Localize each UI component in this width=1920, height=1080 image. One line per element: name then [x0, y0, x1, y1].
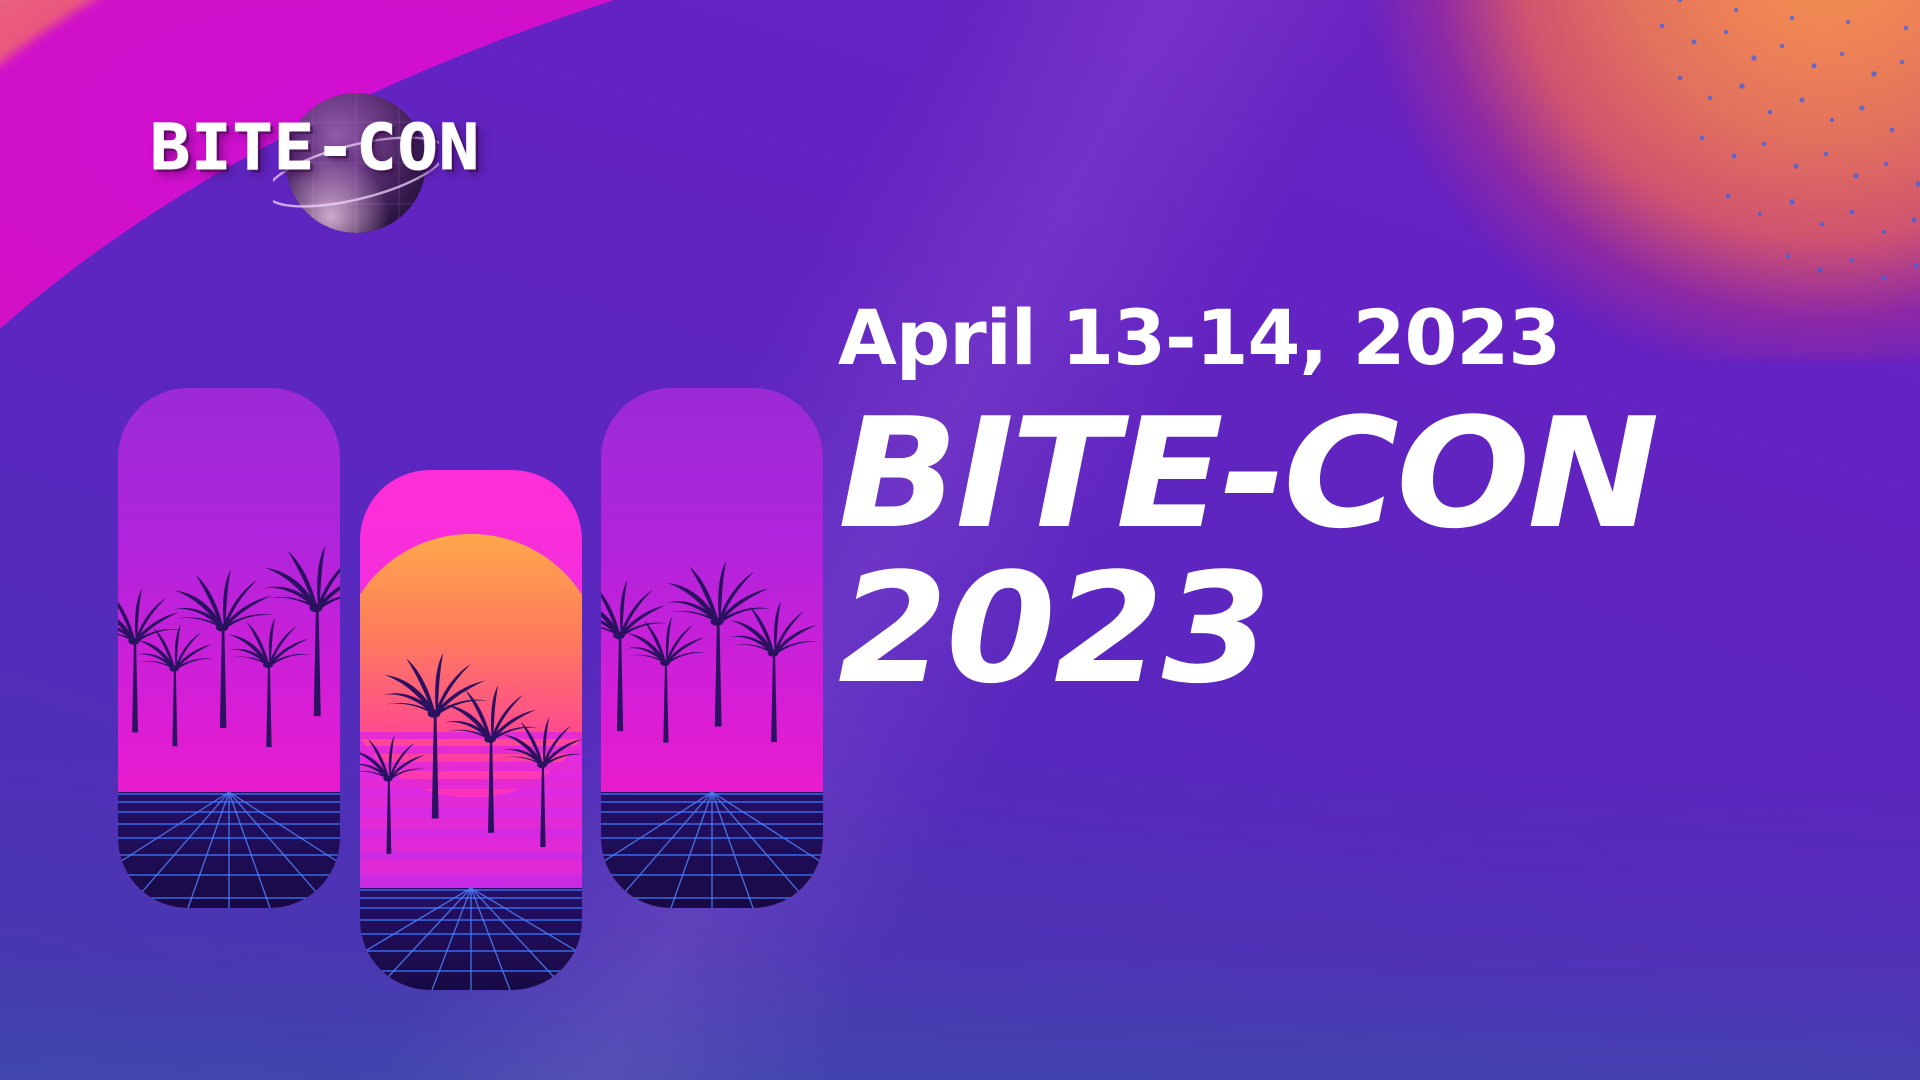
dot-cluster-icon [1530, 0, 1920, 300]
event-date: April 13-14, 2023 [838, 300, 1798, 376]
event-banner: BITE-CON [0, 0, 1920, 1080]
event-year: 2023 [838, 555, 1836, 704]
event-title: BITE-CON [838, 400, 1836, 549]
retrowave-card-middle [360, 470, 582, 990]
hero-copy: April 13-14, 2023 BITE-CON 2023 [838, 300, 1798, 704]
retrowave-card-left [118, 388, 340, 908]
retrowave-card-group [0, 0, 850, 1080]
retrowave-card-right [601, 388, 823, 908]
